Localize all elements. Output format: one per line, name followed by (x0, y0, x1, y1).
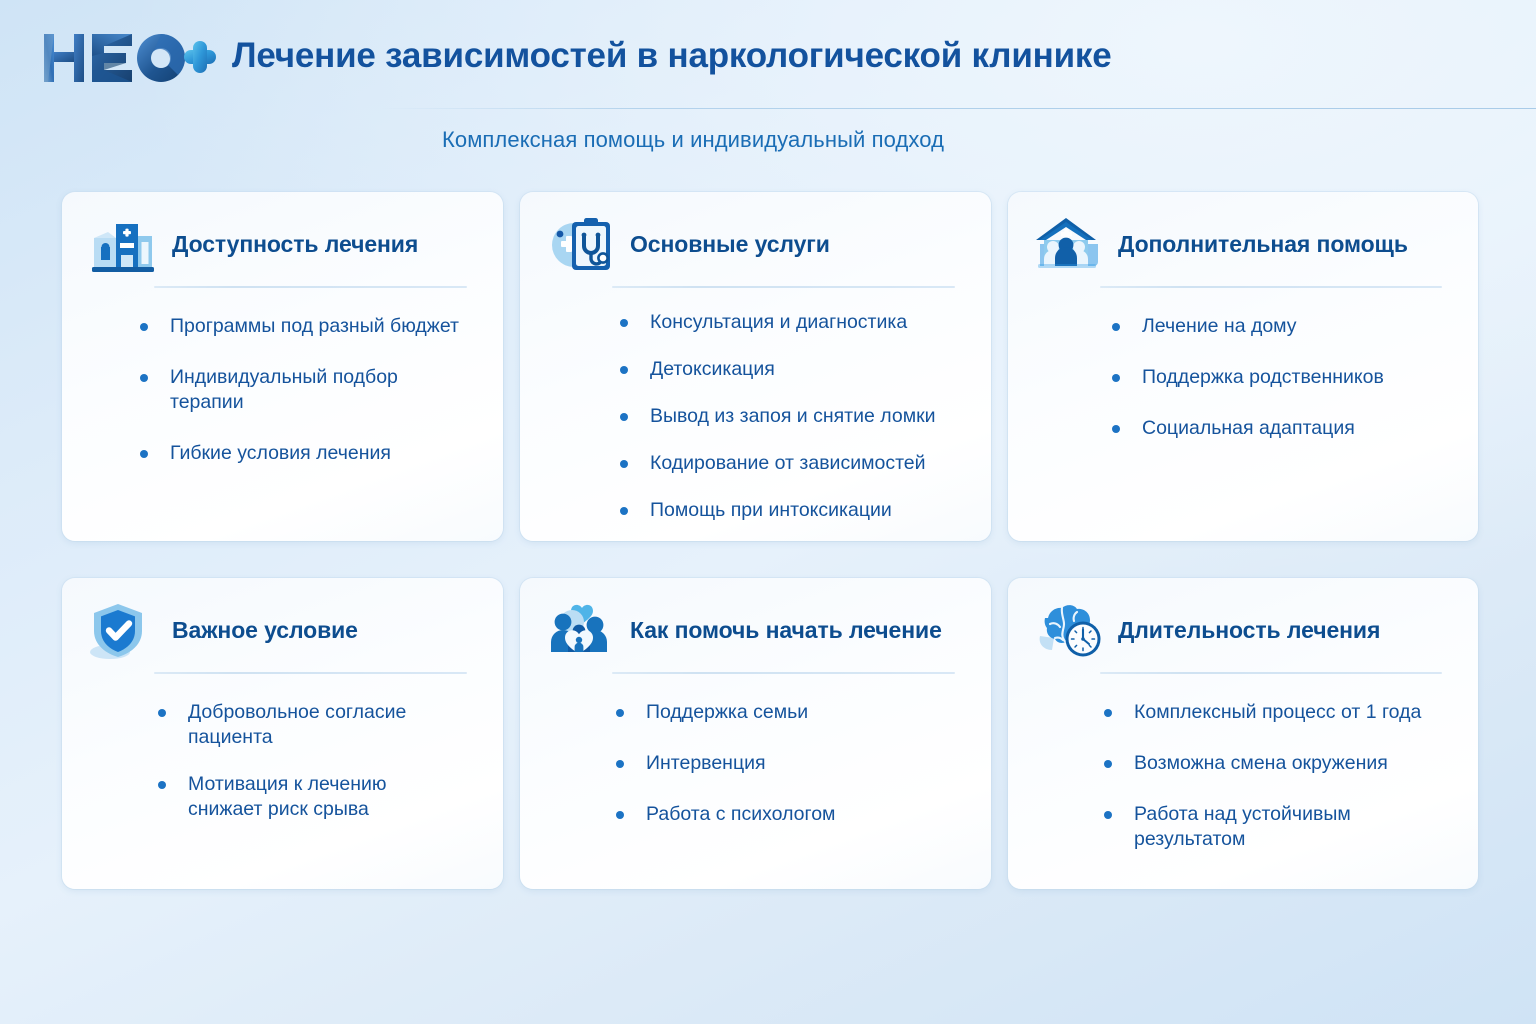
list-item: Комплексный процесс от 1 года (1134, 700, 1450, 725)
list-item-text: Помощь при интоксикации (650, 498, 963, 523)
bullet-dot (616, 760, 624, 768)
list-item: Гибкие условия лечения (170, 441, 475, 466)
card-header: Как помочь начать лечение (520, 578, 991, 662)
list-item-text: Комплексный процесс от 1 года (1134, 700, 1450, 725)
card-kak-pomoch-nachat-lechenie[interactable]: Как помочь начать лечение Поддержка семь… (520, 578, 991, 889)
card-title: Как помочь начать лечение (630, 618, 942, 643)
header: Лечение зависимостей в наркологической к… (0, 0, 1536, 90)
list-item-text: Гибкие условия лечения (170, 441, 475, 466)
list-item: Работа над устойчивым результатом (1134, 802, 1450, 852)
bullet-dot (1112, 323, 1120, 331)
clipboard-stethoscope-icon (546, 214, 618, 276)
list-item-text: Возможна смена окружения (1134, 751, 1450, 776)
bullet-dot (158, 709, 166, 717)
bullet-list: Поддержка семьи Интервенция Работа с пси… (520, 674, 991, 827)
brain-clock-icon (1034, 600, 1106, 662)
bullet-dot (620, 319, 628, 327)
bullet-dot (616, 811, 624, 819)
list-item: Индивидуальный подбор терапии (170, 365, 475, 415)
card-osnovnye-uslugi[interactable]: Основные услуги Консультация и диагности… (520, 192, 991, 541)
list-item: Вывод из запоя и снятие ломки (650, 404, 963, 429)
list-item-text: Детоксикация (650, 357, 963, 382)
list-item: Помощь при интоксикации (650, 498, 963, 523)
list-item-text: Добровольное согласие пациента (188, 700, 443, 750)
bullet-list: Добровольное согласие пациента Мотивация… (62, 674, 503, 822)
bullet-list: Консультация и диагностика Детоксикация … (520, 288, 991, 523)
bullet-dot (140, 374, 148, 382)
list-item: Детоксикация (650, 357, 963, 382)
list-item-text: Поддержка семьи (646, 700, 963, 725)
bullet-dot (1104, 760, 1112, 768)
page-title: Лечение зависимостей в наркологической к… (232, 38, 1112, 79)
card-header: Дополнительная помощь (1008, 192, 1478, 276)
bullet-dot (1112, 374, 1120, 382)
card-title: Дополнительная помощь (1118, 232, 1408, 257)
bullet-dot (620, 460, 628, 468)
list-item-text: Индивидуальный подбор терапии (170, 365, 475, 415)
shield-check-icon (88, 600, 160, 662)
family-heart-icon (546, 600, 618, 662)
list-item-text: Консультация и диагностика (650, 310, 963, 335)
card-header: Основные услуги (520, 192, 991, 276)
header-divider (380, 108, 1536, 109)
page-subtitle: Комплексная помощь и индивидуальный подх… (0, 127, 1386, 153)
bullet-dot (1104, 709, 1112, 717)
bullet-dot (140, 323, 148, 331)
hospital-building-icon (88, 214, 160, 276)
card-header: Длительность лечения (1008, 578, 1478, 662)
bullet-list: Программы под разный бюджет Индивидуальн… (62, 288, 503, 466)
list-item: Мотивация к лечению снижает риск срыва (188, 772, 443, 822)
list-item: Работа с психологом (646, 802, 963, 827)
bullet-list: Лечение на дому Поддержка родственников … (1008, 288, 1478, 441)
bullet-dot (1104, 811, 1112, 819)
list-item: Программы под разный бюджет (170, 314, 475, 339)
list-item-text: Интервенция (646, 751, 963, 776)
list-item: Поддержка семьи (646, 700, 963, 725)
brand-row: Лечение зависимостей в наркологической к… (0, 0, 1536, 90)
list-item: Интервенция (646, 751, 963, 776)
list-item-text: Кодирование от зависимостей (650, 451, 963, 476)
neo-plus-logo (34, 26, 216, 90)
bullet-dot (1112, 425, 1120, 433)
bullet-dot (158, 781, 166, 789)
list-item: Кодирование от зависимостей (650, 451, 963, 476)
list-item-text: Социальная адаптация (1142, 416, 1450, 441)
card-title: Важное условие (172, 618, 358, 643)
bullet-dot (620, 413, 628, 421)
list-item-text: Работа с психологом (646, 802, 963, 827)
list-item-text: Лечение на дому (1142, 314, 1450, 339)
bullet-dot (616, 709, 624, 717)
list-item: Возможна смена окружения (1134, 751, 1450, 776)
card-dlitelnost-lecheniya[interactable]: Длительность лечения Комплексный процесс… (1008, 578, 1478, 889)
list-item-text: Вывод из запоя и снятие ломки (650, 404, 963, 429)
list-item-text: Мотивация к лечению снижает риск срыва (188, 772, 443, 822)
bullet-dot (620, 366, 628, 374)
card-header: Важное условие (62, 578, 503, 662)
list-item: Поддержка родственников (1142, 365, 1450, 390)
home-family-care-icon (1034, 214, 1106, 276)
card-grid: Доступность лечения Программы под разный… (62, 192, 1474, 889)
list-item: Лечение на дому (1142, 314, 1450, 339)
card-vazhnoe-uslovie[interactable]: Важное условие Добровольное согласие пац… (62, 578, 503, 889)
infographic-page: Лечение зависимостей в наркологической к… (0, 0, 1536, 1024)
list-item: Консультация и диагностика (650, 310, 963, 335)
list-item: Социальная адаптация (1142, 416, 1450, 441)
card-dopolnitelnaya-pomoshch[interactable]: Дополнительная помощь Лечение на дому По… (1008, 192, 1478, 541)
card-dostupnost-lecheniya[interactable]: Доступность лечения Программы под разный… (62, 192, 503, 541)
list-item-text: Поддержка родственников (1142, 365, 1450, 390)
card-title: Длительность лечения (1118, 618, 1380, 643)
card-title: Основные услуги (630, 232, 830, 257)
card-header: Доступность лечения (62, 192, 503, 276)
bullet-dot (140, 450, 148, 458)
bullet-dot (620, 507, 628, 515)
bullet-list: Комплексный процесс от 1 года Возможна с… (1008, 674, 1478, 852)
card-title: Доступность лечения (172, 232, 418, 257)
list-item-text: Работа над устойчивым результатом (1134, 802, 1450, 852)
list-item: Добровольное согласие пациента (188, 700, 443, 750)
list-item-text: Программы под разный бюджет (170, 314, 475, 339)
